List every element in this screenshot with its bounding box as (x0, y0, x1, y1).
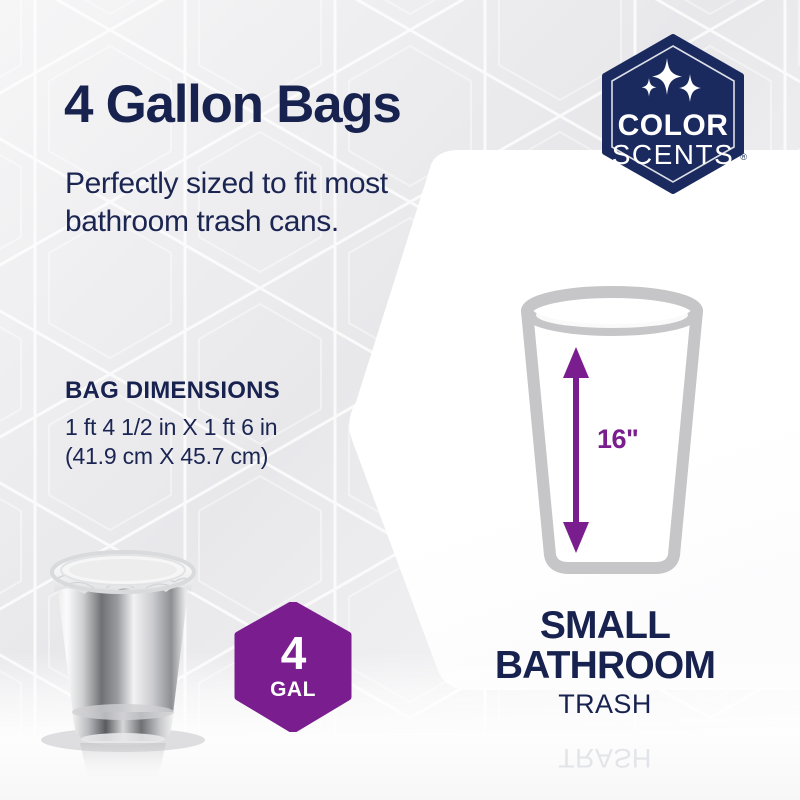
measurement-label: 16" (597, 424, 638, 455)
bag-dimensions-metric: (41.9 cm X 45.7 cm) (65, 442, 277, 471)
registered-trademark-icon: ® (740, 152, 747, 162)
infographic-canvas: 4 Gallon Bags Perfectly sized to fit mos… (0, 0, 800, 800)
caption-block: SMALL BATHROOM TRASH (455, 606, 755, 720)
caption-reflection: TRASH (455, 742, 755, 773)
hexagon-badge-icon: COLOR SCENTS (597, 34, 749, 194)
purple-hexagon-icon (234, 602, 352, 732)
bag-dimensions-imperial: 1 ft 4 1/2 in X 1 ft 6 in (65, 413, 277, 442)
caption-line-2: BATHROOM (455, 646, 755, 686)
metal-trash-can-icon (28, 534, 218, 784)
metal-trash-can-photo (28, 534, 218, 784)
logo-word-scents: SCENTS (612, 139, 735, 170)
gallon-badge: 4 GAL (234, 602, 352, 732)
brand-logo: COLOR SCENTS ® (597, 34, 749, 194)
page-title: 4 Gallon Bags (64, 78, 401, 131)
bag-dimensions-title: BAG DIMENSIONS (65, 377, 280, 405)
bag-dimensions-values: 1 ft 4 1/2 in X 1 ft 6 in (41.9 cm X 45.… (65, 413, 277, 472)
logo-word-color: COLOR (618, 109, 729, 142)
subheadline: Perfectly sized to fit most bathroom tra… (65, 165, 395, 242)
caption-line-3: TRASH (455, 689, 755, 720)
caption-line-1: SMALL (455, 606, 755, 646)
